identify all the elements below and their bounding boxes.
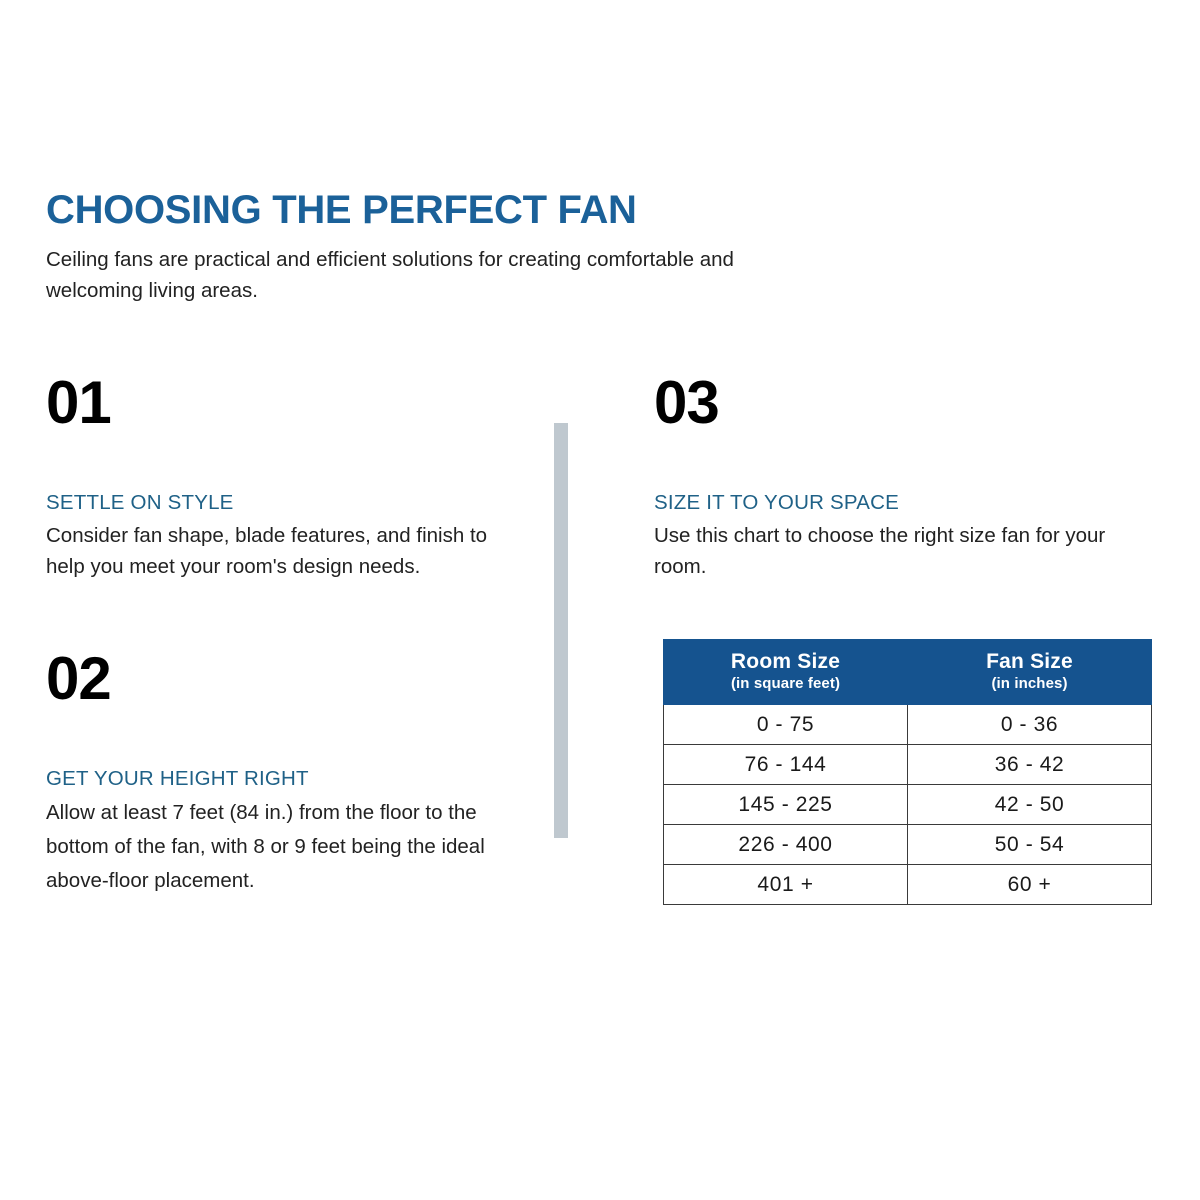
intro-paragraph: Ceiling fans are practical and efficient… bbox=[46, 244, 816, 306]
step-01-description: Consider fan shape, blade features, and … bbox=[46, 520, 516, 582]
step-03: 03 SIZE IT TO YOUR SPACE Use this chart … bbox=[654, 372, 1154, 582]
fan-size-table: Room Size (in square feet) Fan Size (in … bbox=[663, 639, 1152, 905]
column-header-fan-size: Fan Size (in inches) bbox=[908, 640, 1152, 705]
column-divider bbox=[554, 423, 568, 838]
table-row: 401 + 60 + bbox=[664, 865, 1152, 905]
step-02-subtitle: GET YOUR HEIGHT RIGHT bbox=[46, 766, 516, 792]
cell-fan-size: 0 - 36 bbox=[908, 705, 1152, 745]
table-body: 0 - 75 0 - 36 76 - 144 36 - 42 145 - 225… bbox=[664, 705, 1152, 905]
column-header-room-size-main: Room Size bbox=[668, 649, 903, 674]
left-column: 01 SETTLE ON STYLE Consider fan shape, b… bbox=[46, 372, 516, 898]
step-02-body: GET YOUR HEIGHT RIGHT Allow at least 7 f… bbox=[46, 766, 516, 898]
right-column: 03 SIZE IT TO YOUR SPACE Use this chart … bbox=[654, 372, 1154, 582]
cell-fan-size: 42 - 50 bbox=[908, 785, 1152, 825]
step-01-body: SETTLE ON STYLE Consider fan shape, blad… bbox=[46, 490, 516, 582]
step-02-description: Allow at least 7 feet (84 in.) from the … bbox=[46, 796, 516, 898]
column-header-room-size: Room Size (in square feet) bbox=[664, 640, 908, 705]
table-header: Room Size (in square feet) Fan Size (in … bbox=[664, 640, 1152, 705]
cell-room-size: 0 - 75 bbox=[664, 705, 908, 745]
page-title: CHOOSING THE PERFECT FAN bbox=[46, 186, 846, 234]
step-01-number: 01 bbox=[46, 372, 516, 434]
table-header-row: Room Size (in square feet) Fan Size (in … bbox=[664, 640, 1152, 705]
cell-fan-size: 50 - 54 bbox=[908, 825, 1152, 865]
column-header-fan-size-main: Fan Size bbox=[912, 649, 1147, 674]
cell-room-size: 76 - 144 bbox=[664, 745, 908, 785]
fan-size-table-wrapper: Room Size (in square feet) Fan Size (in … bbox=[663, 639, 1152, 905]
table-row: 76 - 144 36 - 42 bbox=[664, 745, 1152, 785]
header-block: CHOOSING THE PERFECT FAN Ceiling fans ar… bbox=[46, 186, 846, 306]
column-header-room-size-unit: (in square feet) bbox=[668, 674, 903, 693]
cell-fan-size: 60 + bbox=[908, 865, 1152, 905]
step-03-description: Use this chart to choose the right size … bbox=[654, 520, 1154, 582]
infographic-canvas: CHOOSING THE PERFECT FAN Ceiling fans ar… bbox=[0, 0, 1200, 1200]
step-03-subtitle: SIZE IT TO YOUR SPACE bbox=[654, 490, 1154, 516]
cell-room-size: 145 - 225 bbox=[664, 785, 908, 825]
cell-fan-size: 36 - 42 bbox=[908, 745, 1152, 785]
column-header-fan-size-unit: (in inches) bbox=[912, 674, 1147, 693]
step-01: 01 SETTLE ON STYLE Consider fan shape, b… bbox=[46, 372, 516, 582]
step-02-number: 02 bbox=[46, 648, 516, 710]
table-row: 145 - 225 42 - 50 bbox=[664, 785, 1152, 825]
table-row: 226 - 400 50 - 54 bbox=[664, 825, 1152, 865]
cell-room-size: 226 - 400 bbox=[664, 825, 908, 865]
step-01-subtitle: SETTLE ON STYLE bbox=[46, 490, 516, 516]
step-03-number: 03 bbox=[654, 372, 1154, 434]
step-02: 02 GET YOUR HEIGHT RIGHT Allow at least … bbox=[46, 648, 516, 898]
table-row: 0 - 75 0 - 36 bbox=[664, 705, 1152, 745]
step-03-body: SIZE IT TO YOUR SPACE Use this chart to … bbox=[654, 490, 1154, 582]
cell-room-size: 401 + bbox=[664, 865, 908, 905]
